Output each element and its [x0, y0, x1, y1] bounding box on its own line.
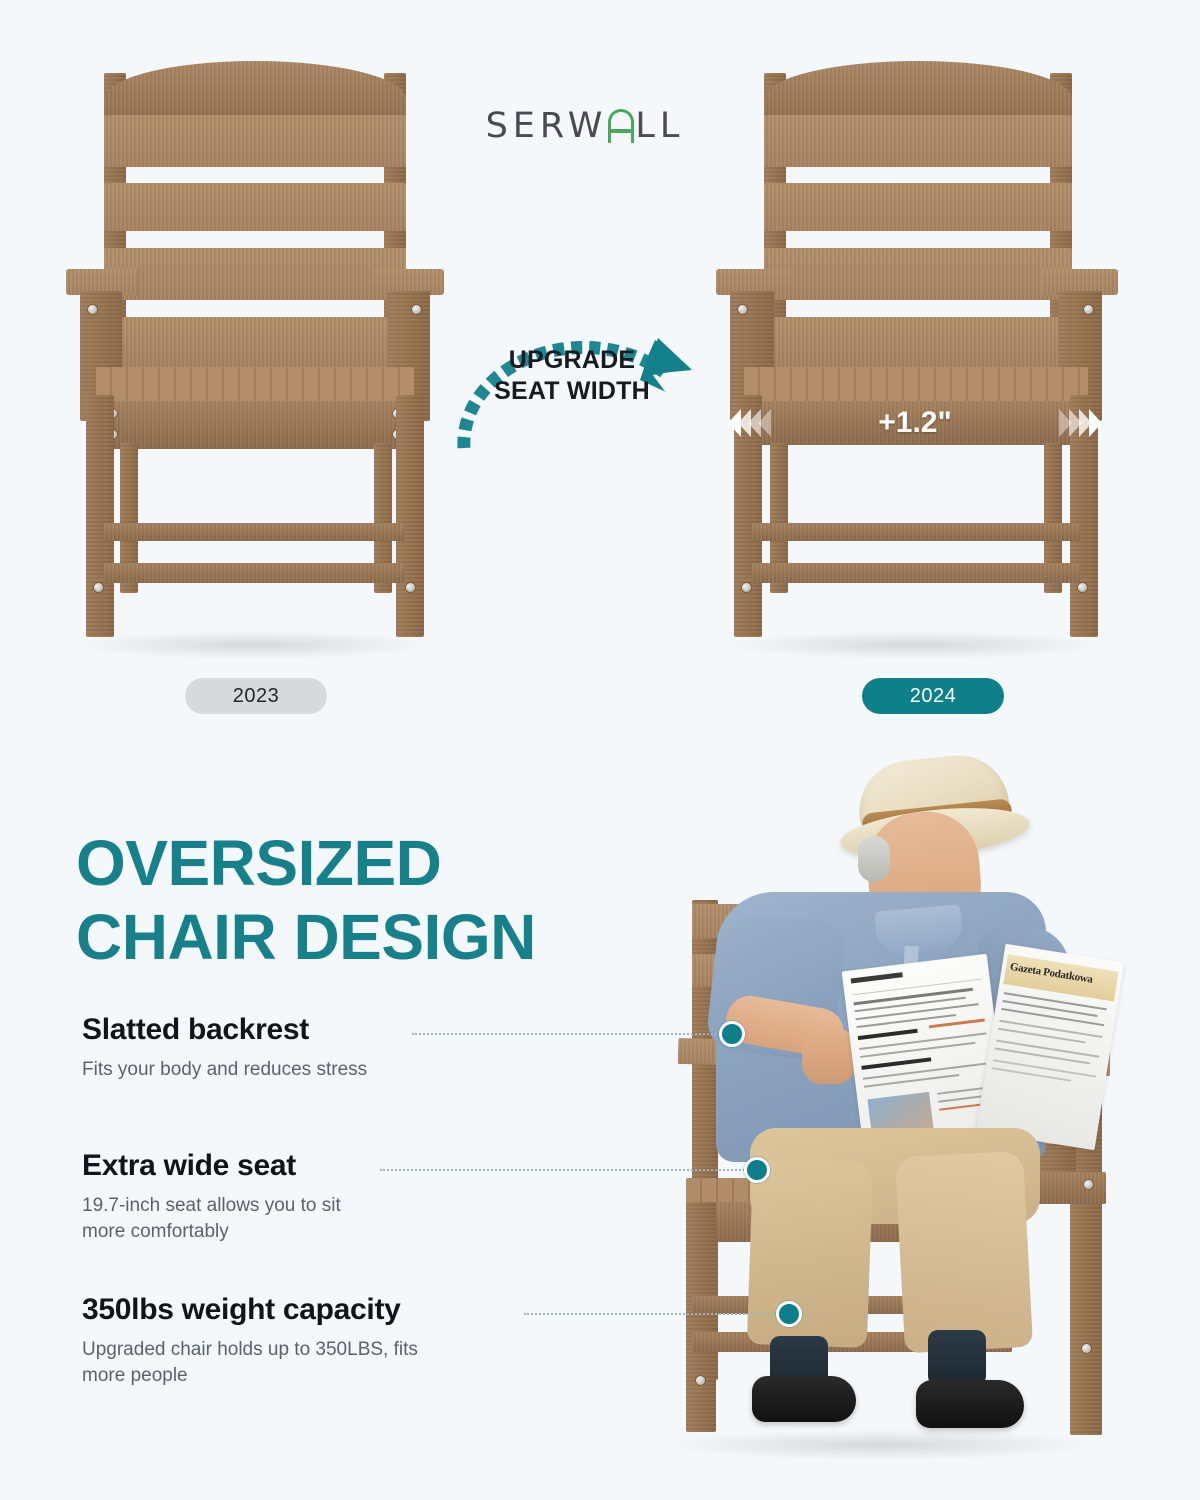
features-section: OVERSIZED CHAIR DESIGN [0, 740, 1200, 1500]
comparison-section: SERW LL [0, 0, 1200, 740]
left-chevrons-icon [728, 409, 771, 437]
upgrade-callout-text: UPGRADE SEAT WIDTH [487, 345, 657, 407]
feature-3-title: 350lbs weight capacity [82, 1292, 562, 1328]
upgrade-line-2: SEAT WIDTH [487, 376, 657, 407]
serwall-logo: SERW LL [470, 103, 700, 149]
feature-marker-capacity [776, 1301, 802, 1327]
right-chevrons-icon [1059, 409, 1102, 437]
year-badge-2023: 2023 [185, 678, 327, 714]
measurement-value: +1.2" [878, 406, 951, 440]
feature-2-title: Extra wide seat [82, 1148, 562, 1184]
page-title: OVERSIZED CHAIR DESIGN [76, 826, 636, 974]
feature-marker-backrest [719, 1021, 745, 1047]
logo-chair-a-icon [608, 109, 634, 143]
left-sandal [752, 1376, 856, 1422]
feature-item-2: Extra wide seat 19.7-inch seat allows yo… [82, 1148, 562, 1245]
headline-line-2: CHAIR DESIGN [76, 900, 636, 974]
upgrade-line-1: UPGRADE [487, 345, 657, 376]
right-sandal [916, 1380, 1024, 1428]
feature-1-desc: Fits your body and reduces stress [82, 1057, 562, 1083]
feature-item-3: 350lbs weight capacity Upgraded chair ho… [82, 1292, 562, 1389]
logo-letters-after: LL [635, 106, 684, 146]
newspaper: Gazeta Podatkowa [852, 952, 1112, 1152]
seat-width-measurement-band: +1.2" [726, 403, 1104, 443]
feature-item-1: Slatted backrest Fits your body and redu… [82, 1012, 562, 1083]
feature-marker-seat [744, 1157, 770, 1183]
feature-3-desc: Upgraded chair holds up to 350LBS, fits … [82, 1337, 460, 1389]
headline-line-1: OVERSIZED [76, 826, 636, 900]
year-badge-2024-label: 2024 [910, 685, 957, 708]
year-badge-2023-label: 2023 [233, 685, 280, 708]
chair-2023-illustration [60, 55, 450, 655]
feature-1-title: Slatted backrest [82, 1012, 562, 1048]
year-badge-2024: 2024 [862, 678, 1004, 714]
logo-letters-before: SERW [486, 106, 608, 146]
chair-2024-illustration [712, 55, 1118, 655]
lifestyle-photo: Gazeta Podatkowa [600, 740, 1200, 1500]
leader-line-3 [524, 1313, 789, 1315]
feature-2-desc: 19.7-inch seat allows you to sit more co… [82, 1193, 382, 1245]
